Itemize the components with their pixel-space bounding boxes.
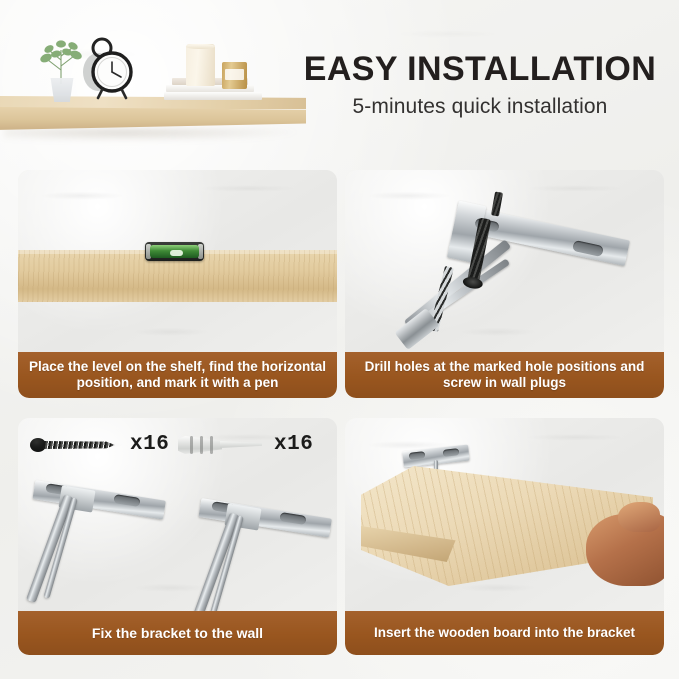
jar-candle-label bbox=[225, 69, 244, 80]
screw-icon bbox=[30, 436, 118, 454]
step-2-photo bbox=[345, 170, 664, 354]
level-vial bbox=[150, 245, 199, 258]
shelf-front-edge bbox=[0, 107, 306, 130]
hero-section: EASY INSTALLATION 5-minutes quick instal… bbox=[0, 0, 679, 165]
step-card-3: x16 x16 bbox=[18, 418, 337, 655]
bubble-level-tool bbox=[145, 242, 204, 261]
wall-plug-rib-1 bbox=[190, 436, 193, 454]
step-1-caption: Place the level on the shelf, find the h… bbox=[18, 352, 337, 398]
infographic-root: EASY INSTALLATION 5-minutes quick instal… bbox=[0, 0, 679, 679]
step-card-4: Insert the wooden board into the bracket bbox=[345, 418, 664, 655]
hero-text-block: EASY INSTALLATION 5-minutes quick instal… bbox=[284, 52, 676, 119]
step-1-photo bbox=[18, 170, 337, 354]
jar-candle bbox=[222, 62, 247, 89]
step-4-caption: Insert the wooden board into the bracket bbox=[345, 611, 664, 655]
step-card-1: Place the level on the shelf, find the h… bbox=[18, 170, 337, 398]
glass-vase bbox=[49, 78, 75, 102]
shelf-shadow bbox=[4, 128, 304, 142]
page-subtitle: 5-minutes quick installation bbox=[284, 95, 676, 119]
step-4-photo bbox=[345, 418, 664, 611]
step-3-photo: x16 x16 bbox=[18, 418, 337, 611]
screw-quantity-label: x16 bbox=[130, 433, 169, 456]
book-bottom bbox=[164, 92, 262, 100]
wall-plug-rib-3 bbox=[210, 436, 213, 454]
steps-grid: Place the level on the shelf, find the h… bbox=[18, 170, 664, 655]
screw-thread bbox=[43, 441, 115, 449]
page-title: EASY INSTALLATION bbox=[284, 52, 676, 86]
pillar-candle bbox=[186, 44, 215, 86]
step-card-2: Drill holes at the marked hole positions… bbox=[345, 170, 664, 398]
step-2-caption: Drill holes at the marked hole positions… bbox=[345, 352, 664, 398]
wall-plug-icon bbox=[178, 434, 262, 456]
wall-plug-rib-2 bbox=[200, 436, 203, 454]
alarm-clock-icon bbox=[78, 36, 134, 102]
level-bubble bbox=[170, 250, 183, 256]
step-3-caption: Fix the bracket to the wall bbox=[18, 611, 337, 655]
hand-thumb bbox=[618, 502, 660, 532]
wall-plug-quantity-label: x16 bbox=[274, 433, 313, 456]
wall-plug-tail bbox=[220, 441, 262, 448]
